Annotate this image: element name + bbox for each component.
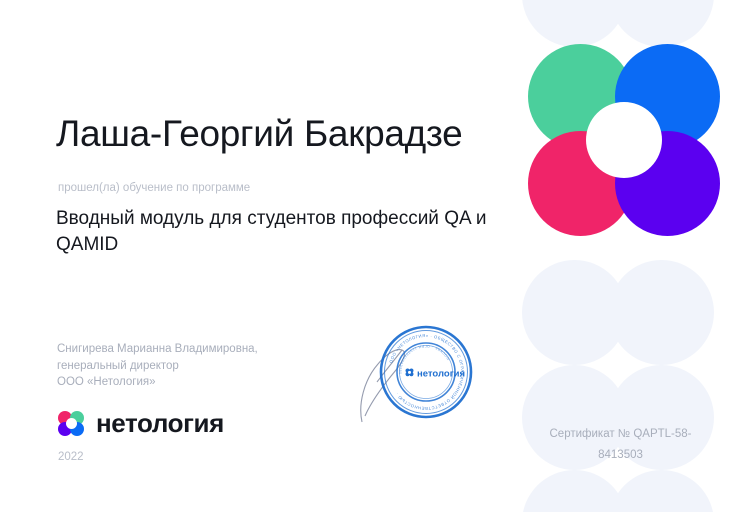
netology-logo: нетология — [58, 408, 224, 439]
seal-center-wordmark: нетология — [417, 369, 465, 380]
certificate-content: Лаша-Георгий Бакрадзе прошел(ла) обучени… — [56, 0, 506, 512]
program-name: Вводный модуль для студентов профессий Q… — [56, 206, 496, 258]
brand-circles-graphic — [524, 44, 724, 244]
certificate-number-line1: Сертификат № QAPTL-58- — [550, 428, 692, 440]
signatory-block: Снигирева Марианна Владимировна, генерал… — [57, 341, 258, 391]
issue-year: 2022 — [58, 451, 84, 463]
netology-logo-mark-icon — [58, 411, 85, 437]
seal-logo-mark-icon — [406, 369, 414, 377]
seal-and-signature: ООО «НЕТОЛОГИЯ» · ОБЩЕСТВО С ОГРАНИЧЕННО… — [352, 318, 480, 430]
signatory-title: генеральный директор — [57, 358, 258, 375]
signatory-name: Снигирева Марианна Владимировна, — [57, 341, 258, 358]
deco-circle — [609, 470, 714, 512]
signatory-org: ООО «Нетология» — [57, 374, 258, 391]
certificate-number: Сертификат № QAPTL-58- 8413503 — [512, 424, 729, 466]
deco-circle — [609, 260, 714, 365]
logo-mark-center-hole — [66, 418, 77, 429]
deco-circle — [609, 0, 714, 47]
netology-wordmark: нетология — [96, 408, 224, 439]
recipient-name: Лаша-Георгий Бакрадзе — [56, 113, 462, 155]
decorative-panel: Сертификат № QAPTL-58- 8413503 — [512, 0, 729, 512]
seal-svg: ООО «НЕТОЛОГИЯ» · ОБЩЕСТВО С ОГРАНИЧЕННО… — [352, 318, 480, 430]
brand-circles-center-hole — [586, 102, 662, 178]
passed-label: прошел(ла) обучение по программе — [58, 182, 250, 194]
certificate-number-line2: 8413503 — [598, 449, 643, 461]
certificate-canvas: Сертификат № QAPTL-58- 8413503 Лаша-Геор… — [0, 0, 729, 512]
